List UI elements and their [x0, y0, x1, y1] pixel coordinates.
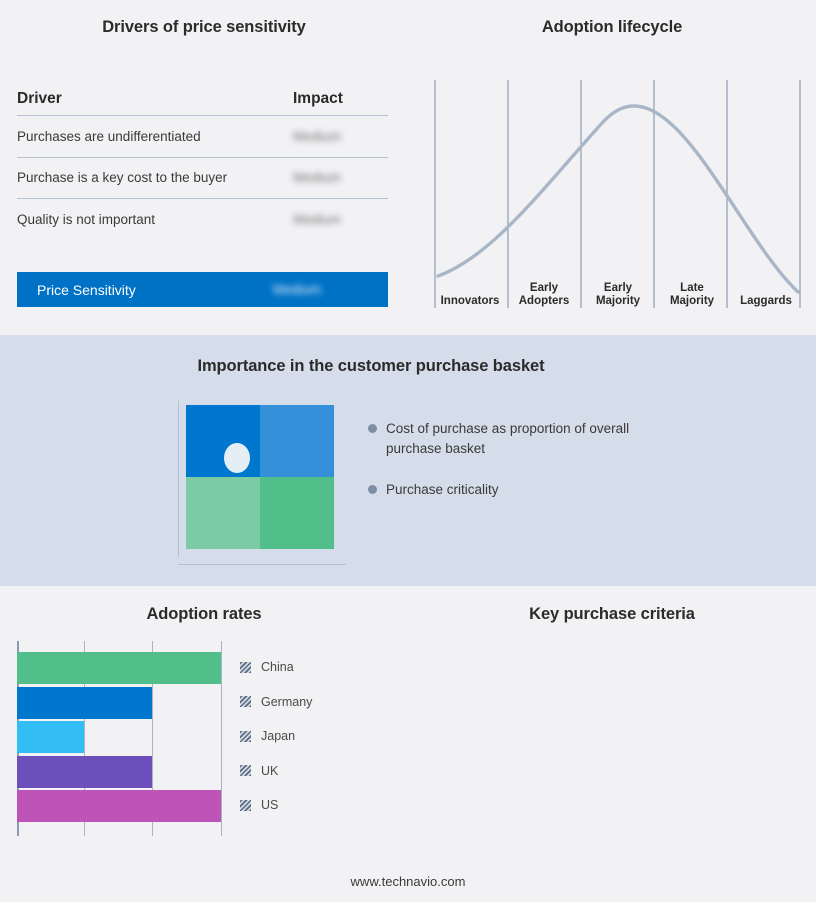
legend-label: US [261, 798, 278, 812]
hatch-swatch-icon [240, 731, 251, 742]
table-row: Purchase is a key cost to the buyer Medi… [17, 158, 388, 200]
lifecycle-segment-early-adopters: Early Adopters [507, 268, 581, 310]
legend-item: Purchase criticality [368, 480, 668, 500]
bar-japan [17, 721, 84, 753]
adoption-lifecycle-panel: Adoption lifecycle [408, 0, 816, 335]
segment-line1: Early [604, 282, 632, 295]
driver-label: Purchases are undifferentiated [17, 129, 293, 144]
legend-label: Purchase criticality [386, 480, 499, 500]
top-section: Drivers of price sensitivity Driver Impa… [0, 0, 816, 335]
legend-item: Germany [240, 685, 312, 720]
impact-value-redacted: Medium [293, 170, 388, 185]
table-row: Quality is not important Medium [17, 199, 388, 241]
lifecycle-segment-labels: Innovators Early Adopters Early Majority… [433, 268, 803, 310]
segment-line2: Laggards [740, 295, 792, 308]
bar-row [17, 721, 221, 753]
purchase-basket-figure [178, 401, 346, 565]
key-purchase-criteria-panel: Key purchase criteria InnovationPriceQua… [408, 586, 816, 886]
legend-label: Germany [261, 695, 312, 709]
bullet-icon [368, 485, 377, 494]
impact-value-redacted: Medium [293, 129, 388, 144]
adoption-rates-plot [17, 641, 221, 836]
bottom-section: Adoption rates ChinaGermanyJapanUKUS Key… [0, 586, 816, 902]
legend-item: Japan [240, 719, 312, 754]
hatch-swatch-icon [240, 662, 251, 673]
bar-china [17, 652, 221, 684]
legend-item: UK [240, 754, 312, 789]
driver-label: Quality is not important [17, 212, 293, 227]
quadrant-bottom-left [186, 477, 260, 549]
bar-germany [17, 687, 152, 719]
chart-gridline [221, 641, 222, 836]
chart-bars-area [17, 652, 221, 822]
footer-url: www.technavio.com [0, 874, 816, 889]
legend-label: Cost of purchase as proportion of overal… [386, 419, 646, 458]
legend-label: China [261, 660, 294, 674]
key-purchase-criteria-title: Key purchase criteria [408, 605, 816, 624]
segment-line2: Majority [670, 295, 714, 308]
price-sensitivity-label: Price Sensitivity [37, 282, 273, 298]
legend-item: US [240, 788, 312, 823]
bar-row [17, 790, 221, 822]
lifecycle-segment-early-majority: Early Majority [581, 268, 655, 310]
segment-line2: Majority [596, 295, 640, 308]
segment-line1: Early [530, 282, 558, 295]
price-sensitivity-impact-redacted: Medium [273, 282, 368, 297]
column-header-driver: Driver [17, 90, 293, 108]
bullet-icon [368, 424, 377, 433]
figure-axis-vertical [178, 401, 179, 557]
hatch-swatch-icon [240, 696, 251, 707]
figure-axis-horizontal [178, 564, 346, 565]
lifecycle-segment-innovators: Innovators [433, 268, 507, 310]
impact-value-redacted: Medium [293, 212, 388, 227]
purchase-basket-legend: Cost of purchase as proportion of overal… [368, 419, 668, 522]
purchase-basket-title: Importance in the customer purchase bask… [0, 357, 742, 376]
position-marker-dot [224, 443, 250, 473]
segment-line1: Late [680, 282, 704, 295]
bar-us [17, 790, 221, 822]
bar-row [17, 756, 221, 788]
column-header-impact: Impact [293, 90, 388, 108]
segment-line2: Adopters [519, 295, 569, 308]
driver-label: Purchase is a key cost to the buyer [17, 170, 293, 185]
lifecycle-segment-late-majority: Late Majority [655, 268, 729, 310]
legend-item: China [240, 650, 312, 685]
bar-row [17, 687, 221, 719]
infographic-page: Drivers of price sensitivity Driver Impa… [0, 0, 816, 902]
adoption-rates-panel: Adoption rates ChinaGermanyJapanUKUS [0, 586, 408, 886]
adoption-lifecycle-title: Adoption lifecycle [408, 18, 816, 37]
drivers-title: Drivers of price sensitivity [0, 18, 408, 37]
lifecycle-segment-laggards: Laggards [729, 268, 803, 310]
adoption-rates-legend: ChinaGermanyJapanUKUS [240, 650, 312, 823]
bar-row [17, 652, 221, 684]
drivers-panel: Drivers of price sensitivity Driver Impa… [0, 0, 408, 335]
price-sensitivity-summary-row: Price Sensitivity Medium [17, 272, 388, 307]
drivers-table: Driver Impact Purchases are undifferenti… [17, 90, 388, 241]
segment-line2: Innovators [441, 295, 500, 308]
purchase-basket-band: Importance in the customer purchase bask… [0, 335, 816, 586]
quadrant-top-left [186, 405, 260, 477]
hatch-swatch-icon [240, 800, 251, 811]
legend-label: UK [261, 764, 278, 778]
adoption-bell-curve [438, 106, 798, 292]
hatch-swatch-icon [240, 765, 251, 776]
table-header-row: Driver Impact [17, 90, 388, 116]
quadrant-grid [186, 405, 334, 549]
table-row: Purchases are undifferentiated Medium [17, 116, 388, 158]
adoption-rates-title: Adoption rates [0, 605, 408, 624]
legend-label: Japan [261, 729, 295, 743]
quadrant-top-right [260, 405, 334, 477]
legend-item: Cost of purchase as proportion of overal… [368, 419, 668, 458]
quadrant-bottom-right [260, 477, 334, 549]
bar-uk [17, 756, 152, 788]
